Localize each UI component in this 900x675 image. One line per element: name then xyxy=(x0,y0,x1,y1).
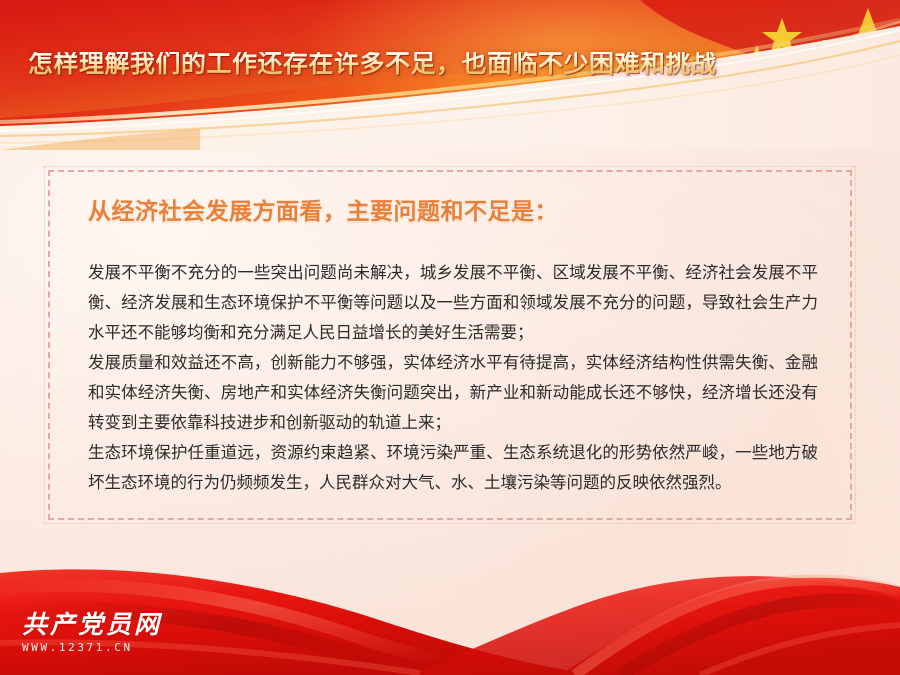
header-banner: 怎样理解我们的工作还存在许多不足，也面临不少困难和挑战 xyxy=(0,0,900,150)
site-logo[interactable]: 共产党员网 WWW.12371.CN xyxy=(22,612,222,653)
section-heading: 从经济社会发展方面看，主要问题和不足是： xyxy=(88,200,558,223)
site-logo-url: WWW.12371.CN xyxy=(22,642,222,653)
site-logo-wordmark: 共产党员网 xyxy=(22,612,222,637)
content-frame: 从经济社会发展方面看，主要问题和不足是： 发展不平衡不充分的一些突出问题尚未解决… xyxy=(48,170,852,520)
poster-canvas: 怎样理解我们的工作还存在许多不足，也面临不少困难和挑战 从经济社会发展方面看，主… xyxy=(0,0,900,675)
page-title: 怎样理解我们的工作还存在许多不足，也面临不少困难和挑战 xyxy=(28,52,717,77)
paragraph-1: 发展不平衡不充分的一些突出问题尚未解决，城乡发展不平衡、区域发展不平衡、经济社会… xyxy=(88,258,818,348)
paragraph-3: 生态环境保护任重道远，资源约束趋紧、环境污染严重、生态系统退化的形势依然严峻，一… xyxy=(88,438,818,498)
paragraph-2: 发展质量和效益还不高，创新能力不够强，实体经济水平有待提高，实体经济结构性供需失… xyxy=(88,348,818,438)
body-copy: 发展不平衡不充分的一些突出问题尚未解决，城乡发展不平衡、区域发展不平衡、经济社会… xyxy=(88,258,818,498)
